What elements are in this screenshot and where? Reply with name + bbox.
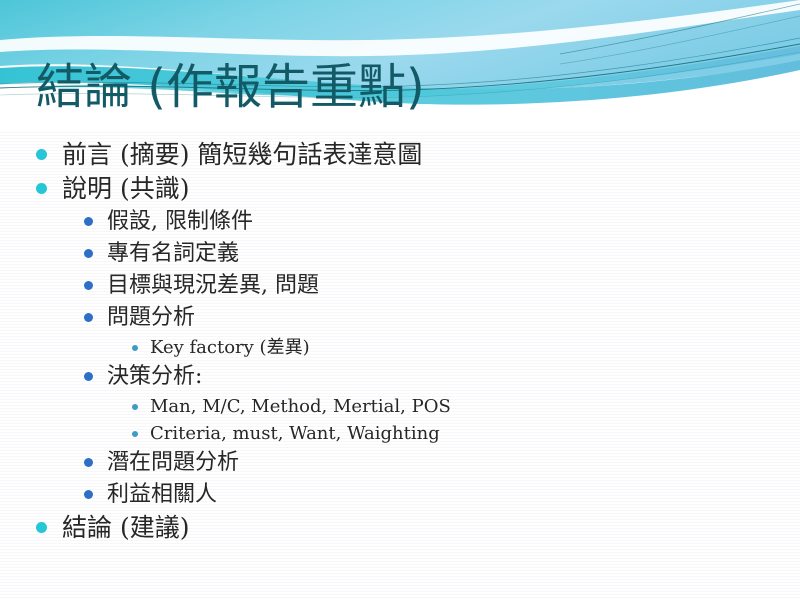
list-item-label: 決策分析: xyxy=(107,361,202,392)
slide-title: 結論 (作報告重點) xyxy=(36,62,756,114)
list-item-label: 假設, 限制條件 xyxy=(107,206,253,237)
bullet-icon xyxy=(132,404,138,410)
list-item-label: 說明 (共識) xyxy=(62,172,189,205)
slide-body-outline: 前言 (摘要) 簡短幾句話表達意圖 說明 (共識) 假設, 限制條件 專有名詞定… xyxy=(0,138,800,545)
list-item[interactable]: 前言 (摘要) 簡短幾句話表達意圖 xyxy=(0,138,800,171)
bullet-icon xyxy=(84,313,93,322)
list-item[interactable]: 目標與現況差異, 問題 xyxy=(0,270,800,301)
bullet-icon xyxy=(36,183,47,194)
bullet-icon xyxy=(36,522,47,533)
list-item[interactable]: Man, M/C, Method, Mertial, POS xyxy=(0,393,800,420)
bullet-icon xyxy=(132,431,138,437)
bullet-icon xyxy=(84,281,93,290)
list-item-label: 目標與現況差異, 問題 xyxy=(107,270,319,301)
list-item-label: 結論 (建議) xyxy=(62,511,189,544)
list-item[interactable]: 潛在問題分析 xyxy=(0,447,800,478)
bullet-icon xyxy=(84,458,93,467)
list-item[interactable]: Key factory (差異) xyxy=(0,334,800,361)
bullet-icon xyxy=(84,372,93,381)
list-item-label: 潛在問題分析 xyxy=(107,447,239,478)
list-item[interactable]: 決策分析: xyxy=(0,361,800,392)
bullet-icon xyxy=(84,217,93,226)
list-item[interactable]: 假設, 限制條件 xyxy=(0,206,800,237)
list-item-label: 問題分析 xyxy=(107,302,195,333)
bullet-icon xyxy=(132,345,138,351)
list-item-label: Criteria, must, Want, Waighting xyxy=(150,420,440,447)
list-item[interactable]: 說明 (共識) xyxy=(0,172,800,205)
bullet-icon xyxy=(84,249,93,258)
presentation-slide: 結論 (作報告重點) 前言 (摘要) 簡短幾句話表達意圖 說明 (共識) 假設,… xyxy=(0,0,800,600)
list-item-label: Man, M/C, Method, Mertial, POS xyxy=(150,393,451,420)
list-item-label: 前言 (摘要) 簡短幾句話表達意圖 xyxy=(62,138,422,171)
list-item-label: Key factory (差異) xyxy=(150,334,310,361)
list-item[interactable]: 專有名詞定義 xyxy=(0,238,800,269)
list-item-label: 專有名詞定義 xyxy=(107,238,239,269)
list-item[interactable]: 利益相關人 xyxy=(0,479,800,510)
bullet-icon xyxy=(36,149,47,160)
list-item[interactable]: 問題分析 xyxy=(0,302,800,333)
list-item[interactable]: 結論 (建議) xyxy=(0,511,800,544)
list-item-label: 利益相關人 xyxy=(107,479,217,510)
bullet-icon xyxy=(84,490,93,499)
list-item[interactable]: Criteria, must, Want, Waighting xyxy=(0,420,800,447)
